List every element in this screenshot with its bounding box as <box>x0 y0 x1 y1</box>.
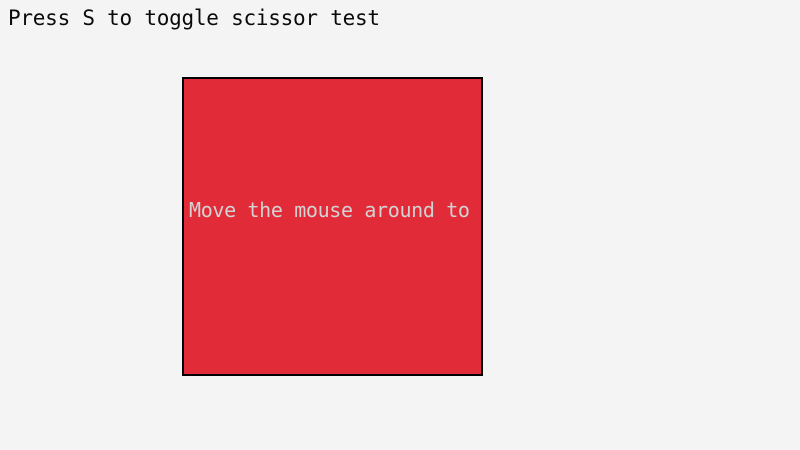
scissor-rectangle[interactable]: Move the mouse around to reveal the rest… <box>182 77 483 376</box>
toggle-scissor-hint-text: Press S to toggle scissor test <box>8 6 380 30</box>
scissor-rectangle-fill <box>184 79 481 374</box>
scissor-clipped-message: Move the mouse around to reveal the rest… <box>189 199 483 221</box>
demo-canvas[interactable]: Press S to toggle scissor test Move the … <box>0 0 800 450</box>
hint-bar: Press S to toggle scissor test <box>0 0 800 40</box>
